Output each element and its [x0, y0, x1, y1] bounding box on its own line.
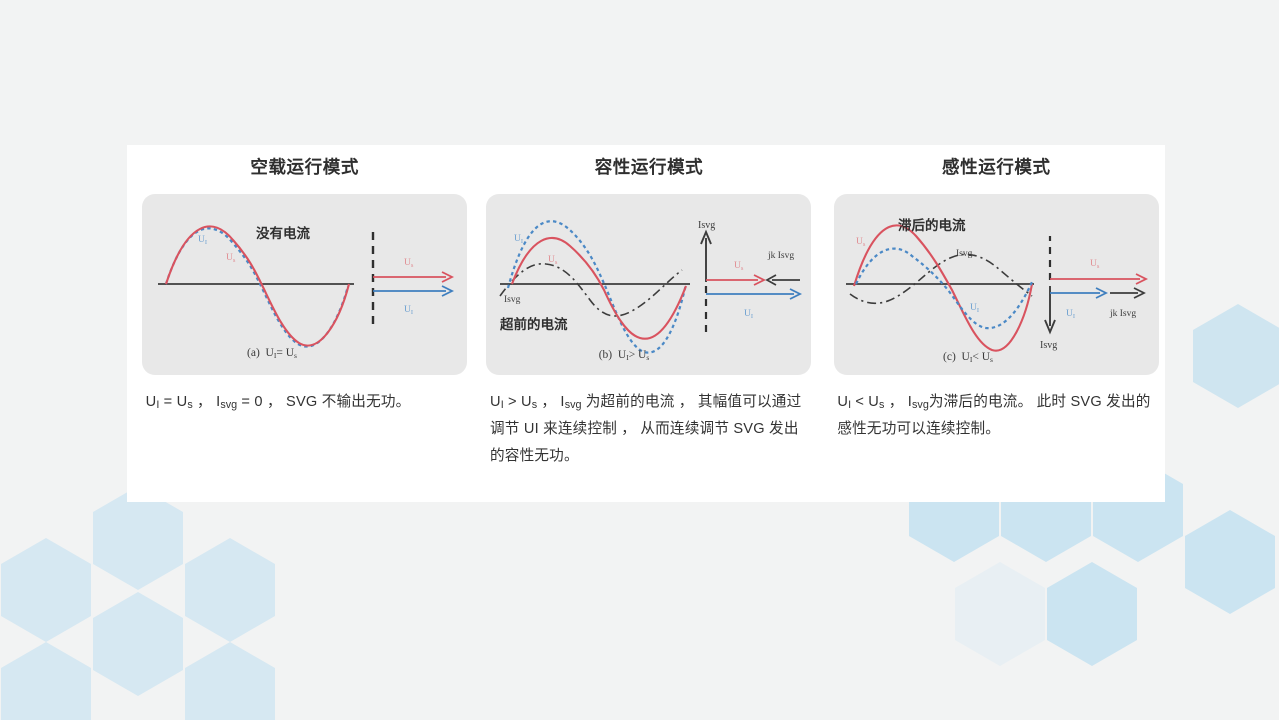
caption-no-load: UI = Us ， Isvg = 0 ， SVG 不输出无功。: [146, 389, 464, 416]
hexagon-icon: [1193, 304, 1279, 408]
caption-text-part2: = U: [159, 394, 187, 410]
phasor-axis-label-isvg: Isvg: [698, 220, 715, 231]
caption-text-part2: < U: [851, 394, 879, 410]
hexagon-icon: [185, 642, 275, 720]
caption-text-part2: > U: [504, 394, 532, 410]
figure-subcaption: (a) UI= Us: [247, 347, 297, 360]
caption-text-part1: U: [837, 394, 848, 410]
curve-isvg: [850, 254, 1032, 303]
panel-title-no-load: 空载运行模式: [250, 159, 359, 177]
caption-text-part3: ， I: [537, 394, 565, 410]
caption-text-part1: U: [490, 394, 501, 410]
panel-title-capacitive: 容性运行模式: [595, 159, 704, 177]
phasor-label-u-i: UI: [1066, 309, 1075, 320]
curve-u-s: [854, 225, 1032, 350]
caption-sub3: svg: [912, 398, 929, 410]
inductive-operation-figure: Us Isvg UI 滞后的电流 Isvg: [834, 194, 1159, 375]
panel-capacitive: 容性运行模式 UI Us Isvg 超前的电流: [473, 145, 817, 502]
phasor-label-u-s: Us: [734, 261, 744, 272]
wave-note-no-current: 没有电流: [256, 225, 310, 241]
caption-text-part1: U: [146, 394, 157, 410]
caption-text-part3: ， I: [884, 394, 912, 410]
hexagon-icon: [1, 642, 91, 720]
phasor-label-jk-isvg: jk Isvg: [1109, 309, 1136, 319]
caption-sub3: svg: [220, 398, 237, 410]
label-isvg-wave: Isvg: [504, 295, 521, 305]
wave-note-lagging-current: 滞后的电流: [898, 217, 966, 233]
caption-text-part4: = 0 ， SVG 不输出无功。: [237, 394, 410, 410]
hexagon-icon: [1, 538, 91, 642]
caption-capacitive: UI > Us ， Isvg 为超前的电流 ， 其幅值可以通过调节 UI 来连续…: [490, 389, 808, 470]
phasor-label-u-s: Us: [404, 258, 414, 269]
phasor-label-u-i: UI: [744, 309, 753, 320]
panel-row: 空载运行模式 UI Us 没有电流: [127, 145, 1165, 502]
phasor-label-u-s: Us: [1090, 259, 1100, 270]
panel-title-inductive: 感性运行模式: [942, 159, 1051, 177]
curve-u-s: [166, 226, 349, 345]
label-isvg-wave: Isvg: [956, 249, 973, 259]
capacitive-operation-figure: UI Us Isvg 超前的电流 Isvg: [486, 194, 811, 375]
label-u-s: Us: [856, 237, 866, 248]
hexagon-icon: [1185, 510, 1275, 614]
figure-subcaption: (b) UI> Us: [599, 349, 650, 362]
label-u-i: UI: [198, 235, 207, 246]
caption-inductive: UI < Us ， Isvg为滞后的电流。 此时 SVG 发出的感性无功可以连续…: [837, 389, 1155, 443]
figure-subcaption: (c) UI< Us: [943, 351, 993, 364]
hexagon-icon: [955, 562, 1045, 666]
caption-text-part3: ， I: [193, 394, 221, 410]
content-card: 空载运行模式 UI Us 没有电流: [127, 145, 1165, 502]
no-load-operation-figure: UI Us 没有电流 Us UI (a): [142, 194, 467, 375]
hexagon-icon: [185, 538, 275, 642]
curve-u-i: [166, 228, 348, 346]
label-u-s: Us: [548, 255, 558, 266]
hexagon-icon: [93, 592, 183, 696]
slide-canvas: 空载运行模式 UI Us 没有电流: [0, 0, 1279, 720]
phasor-axis-label-isvg: Isvg: [1040, 340, 1057, 351]
wave-note-leading-current: 超前的电流: [499, 316, 568, 332]
caption-sub3: svg: [565, 398, 582, 410]
phasor-label-jk-isvg: jk Isvg: [767, 251, 794, 261]
label-u-i: UI: [514, 234, 523, 245]
panel-inductive: 感性运行模式 Us Isvg UI 滞后的电流: [818, 145, 1165, 502]
phasor-label-u-i: UI: [404, 305, 413, 316]
label-u-i: UI: [970, 303, 979, 314]
hexagon-icon: [1047, 562, 1137, 666]
panel-no-load: 空载运行模式 UI Us 没有电流: [127, 145, 473, 502]
label-u-s: Us: [226, 253, 236, 264]
curve-isvg: [500, 263, 682, 315]
